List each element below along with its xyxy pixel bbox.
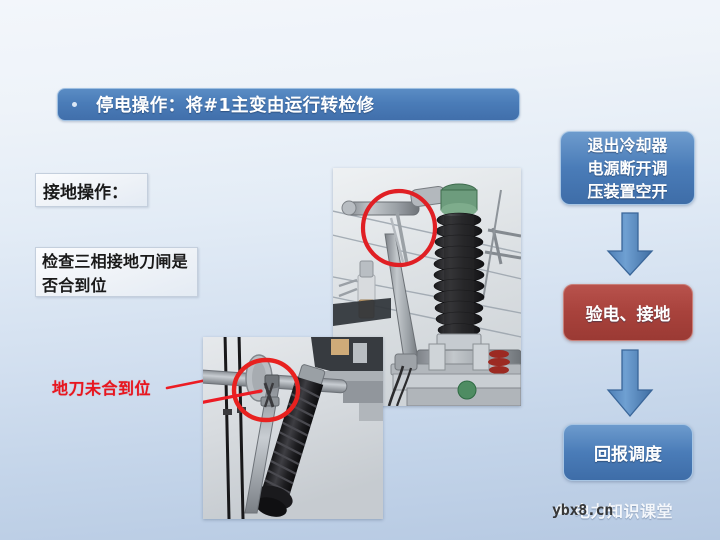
slide-title-banner: 停电操作：将#1主变由运行转检修: [57, 88, 520, 121]
slide-canvas: 停电操作：将#1主变由运行转检修 接地操作： 检查三相接地刀闸是否合到位 地刀未…: [0, 0, 720, 540]
red-annotation-text: 地刀未合到位: [52, 375, 151, 399]
watermark-url: ybx8.cn: [552, 501, 613, 519]
check-note-box: 检查三相接地刀闸是否合到位: [35, 247, 198, 297]
flow-arrow-down-1-icon: [602, 211, 658, 277]
flow-step-2[interactable]: 验电、接地: [563, 284, 693, 341]
flow-step-2-label: 验电、接地: [586, 300, 671, 325]
flow-step-1[interactable]: 退出冷却器 电源断开调 压装置空开: [560, 131, 695, 205]
flow-step-1-label: 退出冷却器 电源断开调 压装置空开: [587, 134, 667, 203]
earthing-switch-blade-closeup-photo: [203, 337, 383, 519]
bullet-dot-icon: [72, 102, 77, 107]
flow-arrow-down-2-icon: [602, 348, 658, 418]
flow-step-3[interactable]: 回报调度: [563, 424, 693, 481]
page-title: 停电操作：将#1主变由运行转检修: [96, 92, 374, 117]
flow-step-3-label: 回报调度: [594, 440, 662, 465]
ground-operation-label: 接地操作：: [35, 173, 148, 207]
